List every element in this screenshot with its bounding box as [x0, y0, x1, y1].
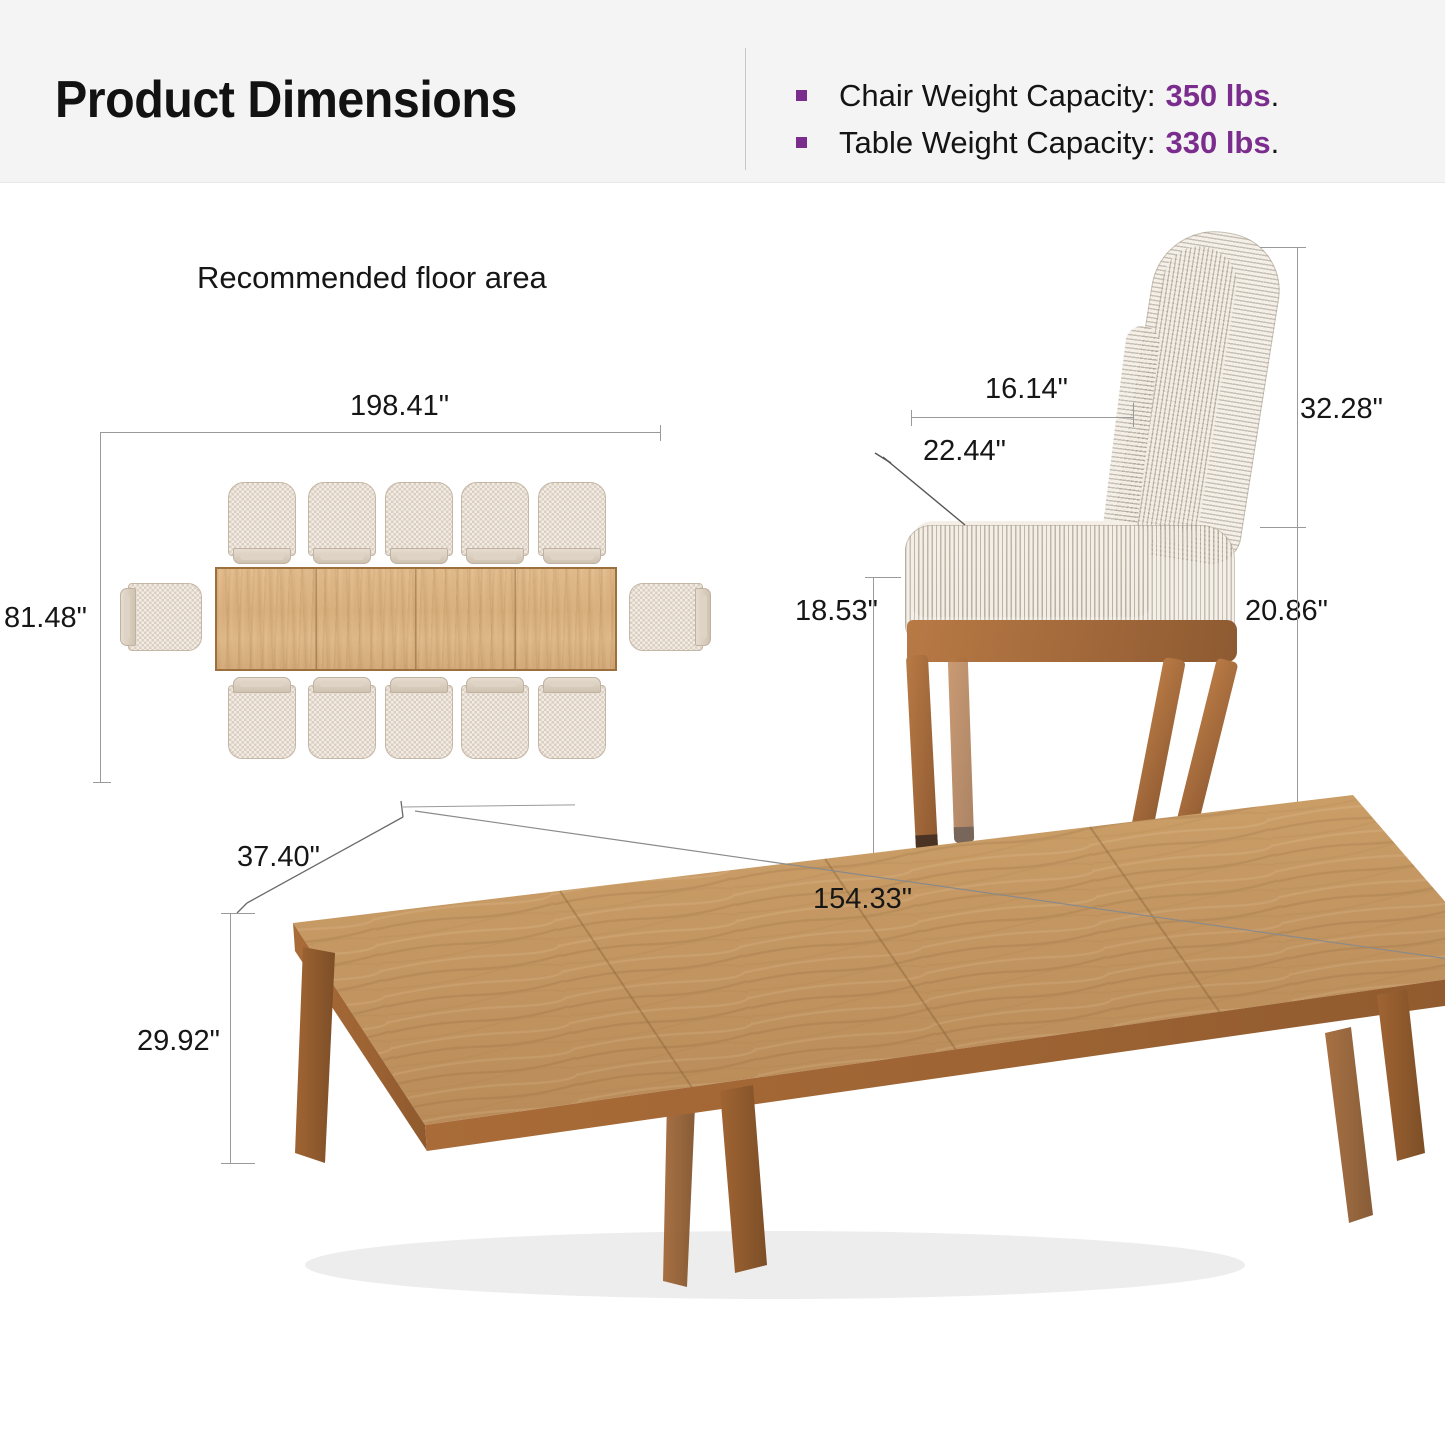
floorplan-chair-top-1	[228, 482, 296, 556]
spec-chair-value: 350 lbs	[1165, 78, 1270, 114]
chair-seat-depth-tick-right	[1133, 403, 1134, 427]
floorplan-chair-bottom-2	[308, 685, 376, 759]
floorplan-chair-bottom-4	[461, 685, 529, 759]
header-divider	[745, 48, 746, 170]
table-height-tick-bottom	[221, 1163, 255, 1164]
floorplan-diagram: Recommended floor area 198.41" 81.48"	[0, 230, 720, 810]
floorplan-chair-top-3	[385, 482, 453, 556]
floorplan-table	[215, 567, 617, 671]
chair-total-height-line	[1297, 247, 1298, 527]
chair-leg-height-tick-top	[865, 577, 901, 578]
floorplan-chair-top-2	[308, 482, 376, 556]
spec-row-table: Table Weight Capacity: 330 lbs .	[796, 119, 1279, 166]
floorplan-chair-top-5	[538, 482, 606, 556]
spec-table-value: 330 lbs	[1165, 125, 1270, 161]
chair-total-height-label: 32.28"	[1300, 393, 1383, 426]
table-length-dimension-line	[175, 795, 1445, 1055]
chair-seat-depth-label: 16.14"	[985, 373, 1068, 406]
floorplan-depth-dimension-line	[100, 432, 101, 782]
floorplan-chair-bottom-5	[538, 685, 606, 759]
floorplan-depth-tick-bottom	[93, 782, 111, 783]
product-dimensions-infographic: Product Dimensions Chair Weight Capacity…	[0, 0, 1445, 1445]
chair-seat-depth-tick-left	[911, 410, 912, 426]
floorplan-depth-dimension-label: 81.48"	[4, 602, 87, 635]
bullet-square-icon	[796, 137, 807, 148]
floorplan-width-dimension-label: 198.41"	[350, 390, 449, 423]
table-diagram: 37.40" 29.92" 154.33"	[175, 795, 1445, 1445]
floorplan-chair-bottom-3	[385, 685, 453, 759]
chair-total-height-tick-top	[1260, 247, 1306, 248]
spec-table-label: Table Weight Capacity:	[839, 125, 1155, 161]
floorplan-chair-left-1	[128, 583, 202, 651]
chair-seat-depth-line	[911, 417, 1133, 418]
spec-list: Chair Weight Capacity: 350 lbs . Table W…	[796, 72, 1279, 166]
bullet-square-icon	[796, 90, 807, 101]
chair-leg-height-label: 18.53"	[795, 595, 878, 628]
floorplan-width-dimension-line	[100, 432, 660, 433]
floorplan-chair-bottom-1	[228, 685, 296, 759]
floorplan-width-tick-right	[660, 425, 661, 441]
floorplan-label: Recommended floor area	[197, 260, 547, 296]
spec-chair-label: Chair Weight Capacity:	[839, 78, 1155, 114]
chair-seat-back-height-label: 20.86"	[1245, 595, 1328, 628]
chair-total-height-tick-bottom	[1260, 527, 1306, 528]
chair-seat-apron	[907, 620, 1237, 662]
header-banner: Product Dimensions Chair Weight Capacity…	[0, 0, 1445, 183]
chair-diagram: 16.14" 22.44" 32.28" 20.86" 18.53"	[845, 225, 1445, 865]
chair-seat-width-label: 22.44"	[923, 435, 1006, 468]
spec-row-chair: Chair Weight Capacity: 350 lbs .	[796, 72, 1279, 119]
spec-table-suffix: .	[1271, 125, 1280, 161]
floorplan-chair-right-1	[629, 583, 703, 651]
page-title: Product Dimensions	[55, 70, 517, 130]
floorplan-chair-top-4	[461, 482, 529, 556]
spec-chair-suffix: .	[1271, 78, 1280, 114]
